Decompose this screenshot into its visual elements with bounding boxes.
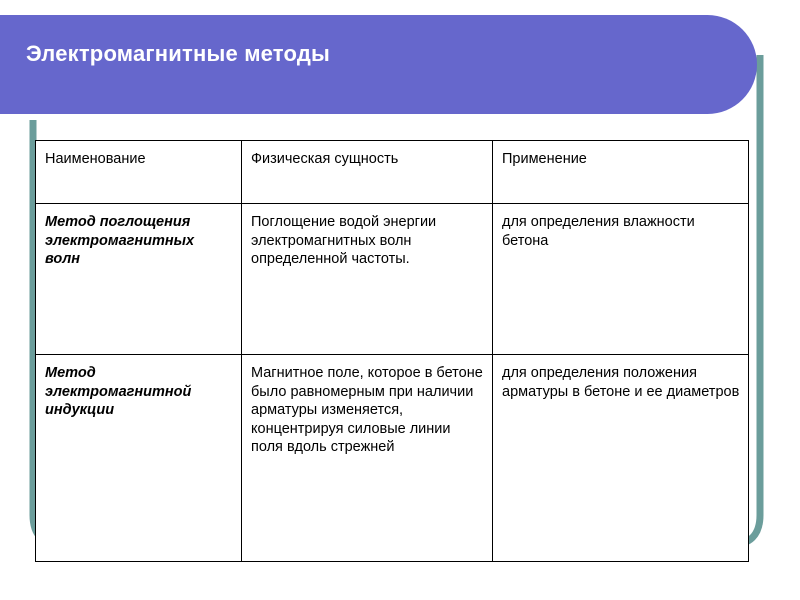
- cell-method-essence: Поглощение водой энергии электромагнитны…: [242, 204, 493, 355]
- slide: Электромагнитные методы Наименование Физ…: [0, 0, 800, 600]
- table-row: Метод электромагнитной индукции Магнитно…: [36, 355, 749, 562]
- cell-method-name: Метод электромагнитной индукции: [36, 355, 242, 562]
- column-header-name: Наименование: [36, 141, 242, 204]
- cell-method-name: Метод поглощения электромагнитных волн: [36, 204, 242, 355]
- table-row: Метод поглощения электромагнитных волн П…: [36, 204, 749, 355]
- cell-method-application: для определения положения арматуры в бет…: [493, 355, 749, 562]
- cell-method-essence: Магнитное поле, которое в бетоне было ра…: [242, 355, 493, 562]
- content-table-wrapper: Наименование Физическая сущность Примене…: [35, 140, 748, 521]
- methods-table: Наименование Физическая сущность Примене…: [35, 140, 749, 562]
- column-header-application: Применение: [493, 141, 749, 204]
- table-header-row: Наименование Физическая сущность Примене…: [36, 141, 749, 204]
- column-header-essence: Физическая сущность: [242, 141, 493, 204]
- page-title: Электромагнитные методы: [26, 41, 330, 67]
- title-underline-rule: [0, 115, 705, 120]
- cell-method-application: для определения влажности бетона: [493, 204, 749, 355]
